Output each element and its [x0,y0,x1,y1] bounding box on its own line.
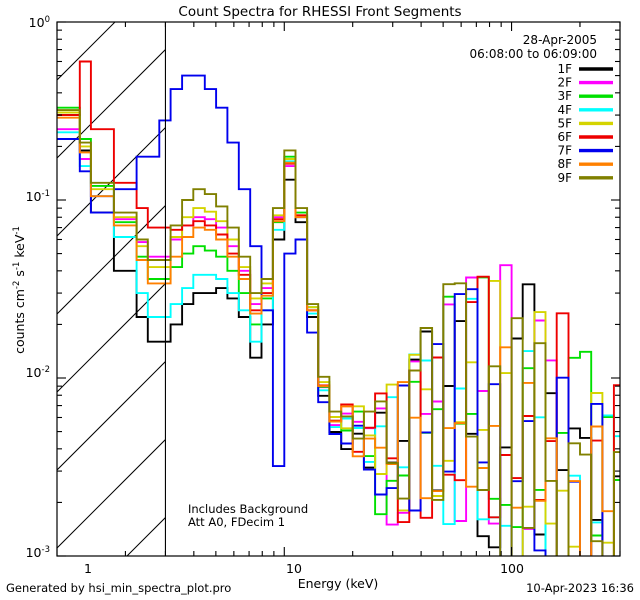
y-label-part2: s [12,270,27,281]
y-label-exp1: -2 [12,281,22,289]
y-label-exp2: -1 [12,262,22,270]
legend-label-2f: 2F [557,76,572,90]
legend-label-8f: 8F [557,157,572,171]
x-tick-100: 100 [500,561,524,576]
y-tick-2-exponent: -2 [42,365,50,375]
y-axis-label: counts cm-2 s-1 keV-1 [12,226,27,354]
footer-timestamp: 10-Apr-2023 16:36 [526,581,634,595]
legend-label-6f: 6F [557,130,572,144]
legend-label-7f: 7F [557,144,572,158]
legend-label-3f: 3F [557,89,572,103]
observation-time-range: 06:08:00 to 06:09:00 [470,47,597,61]
x-tick-10: 10 [286,561,302,576]
annotation-line-2: Att A0, FDecim 1 [188,515,285,529]
x-tick-1: 1 [84,561,92,576]
y-tick-1-exponent: -1 [42,189,50,199]
y-tick-2-mantissa: 10 [26,365,42,380]
y-tick-0-exponent: 0 [45,15,50,25]
x-axis-label: Energy (keV) [298,576,379,591]
y-label-exp3: -1 [12,226,22,234]
spectra-plot-figure: Count Spectra for RHESSI Front Segments … [0,0,640,600]
y-tick-1-mantissa: 10 [26,189,42,204]
y-tick-0-mantissa: 10 [29,15,45,30]
observation-date: 28-Apr-2005 [523,33,597,47]
y-tick-3-mantissa: 10 [26,545,42,560]
y-tick-3-exponent: -3 [42,545,50,555]
legend-label-9f: 9F [557,171,572,185]
legend-label-4f: 4F [557,103,572,117]
legend-label-5f: 5F [557,116,572,130]
plot-svg: Count Spectra for RHESSI Front Segments … [0,0,640,600]
y-label-part1: counts cm [12,289,27,354]
footer-generator: Generated by hsi_min_spectra_plot.pro [6,581,231,595]
annotation-line-1: Includes Background [188,502,308,516]
y-label-part3: keV [12,234,27,261]
canvas-background [0,0,640,600]
chart-title: Count Spectra for RHESSI Front Segments [178,4,461,20]
legend-label-1f: 1F [557,62,572,76]
